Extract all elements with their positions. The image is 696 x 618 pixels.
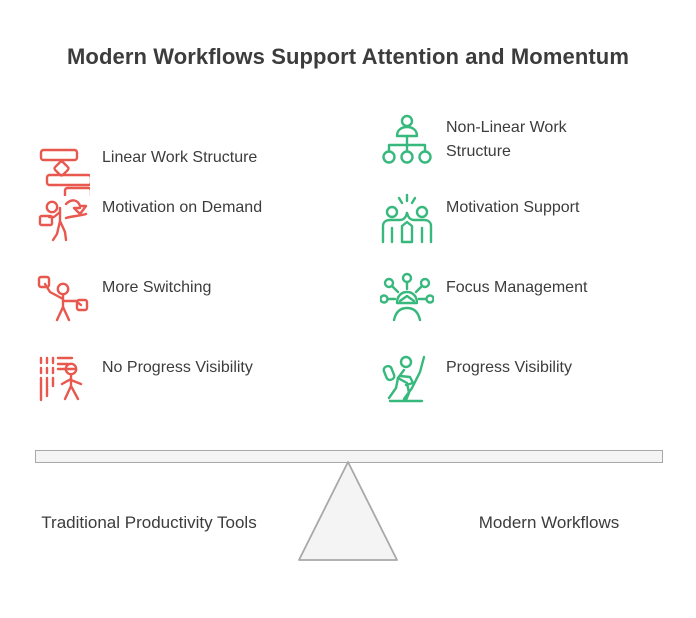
list-item-label: More Switching [102, 272, 211, 300]
list-item-label: Progress Visibility [446, 352, 572, 380]
person-task-switching-icon [36, 272, 90, 326]
list-item-label: Motivation on Demand [102, 192, 262, 220]
list-item[interactable]: Focus Management [380, 272, 682, 352]
list-item-label: Focus Management [446, 272, 587, 300]
gantt-chart-icon [36, 142, 90, 196]
list-item[interactable]: No Progress Visibility [36, 352, 334, 432]
comparison-columns: Linear Work Structure Motivation on Dema… [0, 112, 696, 432]
infographic-canvas: Modern Workflows Support Attention and M… [0, 0, 696, 618]
list-item-label: No Progress Visibility [102, 352, 253, 380]
list-item[interactable]: Progress Visibility [380, 352, 682, 432]
list-item[interactable]: Non-Linear Work Structure [380, 112, 682, 192]
page-title: Modern Workflows Support Attention and M… [0, 44, 696, 70]
person-behind-dashed-lines-icon [36, 352, 90, 406]
left-column: Linear Work Structure Motivation on Dema… [0, 112, 348, 432]
org-chart-icon [380, 112, 434, 166]
list-item-label: Non-Linear Work Structure [446, 112, 616, 164]
list-item[interactable]: Motivation on Demand [36, 192, 334, 272]
left-base-label: Traditional Productivity Tools [20, 510, 278, 536]
list-item[interactable]: Linear Work Structure [36, 112, 334, 192]
list-item-label: Linear Work Structure [102, 142, 257, 170]
right-column: Non-Linear Work Structure Motivation Sup… [348, 112, 696, 432]
two-people-high-five-icon [380, 192, 434, 246]
person-carrying-box-icon [36, 192, 90, 246]
right-base-label: Modern Workflows [420, 510, 678, 536]
balance-fulcrum [298, 461, 398, 561]
list-item-label: Motivation Support [446, 192, 579, 220]
list-item[interactable]: More Switching [36, 272, 334, 352]
list-item[interactable]: Motivation Support [380, 192, 682, 272]
head-with-nodes-icon [380, 272, 434, 326]
person-climbing-icon [380, 352, 434, 406]
